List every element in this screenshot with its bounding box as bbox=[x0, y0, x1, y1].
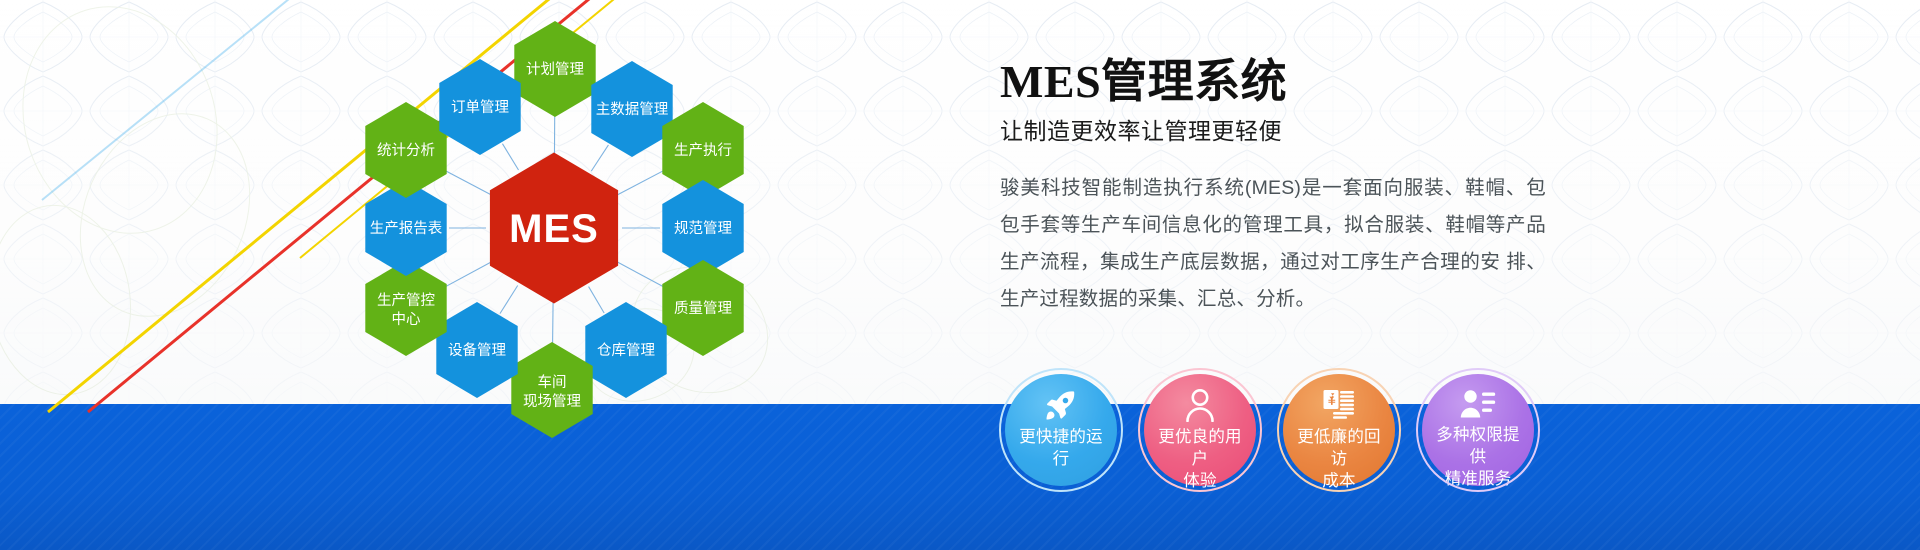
connector-line bbox=[444, 170, 494, 196]
hexagon-label: 现场管理 bbox=[523, 393, 581, 410]
background-pattern bbox=[0, 0, 1920, 404]
connector-line bbox=[589, 287, 605, 313]
hexagon-label: 生产管控 bbox=[377, 292, 435, 309]
hexagon-label: 中心 bbox=[392, 311, 421, 328]
connector-line bbox=[444, 260, 494, 287]
badge-faster-operation[interactable]: 更快捷的运行 bbox=[1005, 374, 1117, 486]
badge-better-user-experience[interactable]: 更优良的用户体验 bbox=[1144, 374, 1256, 486]
center-hexagon-label: MES bbox=[509, 207, 599, 251]
hex-order-management[interactable]: 订单管理 bbox=[439, 59, 520, 155]
hexagon-label: 生产执行 bbox=[674, 142, 732, 159]
hexagon-center-mes: MES bbox=[490, 153, 618, 304]
hex-warehouse-management[interactable]: 仓库管理 bbox=[585, 302, 666, 398]
background-blue-band bbox=[0, 404, 1920, 550]
connector-line bbox=[614, 260, 665, 287]
hex-equipment-management[interactable]: 设备管理 bbox=[436, 302, 517, 398]
hex-quality-management[interactable]: 质量管理 bbox=[662, 260, 743, 356]
hex-plan-management[interactable]: 计划管理 bbox=[514, 21, 595, 117]
connector-line bbox=[500, 286, 518, 314]
mes-hexagon-diagram: 计划管理主数据管理生产执行规范管理质量管理仓库管理车间现场管理设备管理生产管控中… bbox=[330, 12, 830, 442]
hexagon-label: 规范管理 bbox=[674, 220, 732, 237]
hexagon-label: 设备管理 bbox=[448, 342, 506, 359]
hex-statistical-analysis[interactable]: 统计分析 bbox=[365, 102, 446, 198]
hexagon-label: 订单管理 bbox=[451, 99, 509, 116]
banner-stage: 计划管理主数据管理生产执行规范管理质量管理仓库管理车间现场管理设备管理生产管控中… bbox=[0, 0, 1920, 550]
hexagon-label: 主数据管理 bbox=[596, 101, 669, 118]
description-paragraph: 骏美科技智能制造执行系统(MES)是一套面向服装、鞋帽、包包手套等生产车间信息化… bbox=[1000, 170, 1546, 318]
badge-lower-revisit-cost[interactable]: 更低廉的回访成本 bbox=[1283, 374, 1395, 486]
badge-multi-permission-service[interactable]: 多种权限提供精准服务 bbox=[1422, 374, 1534, 486]
page-title: MES管理系统 bbox=[1000, 58, 1600, 106]
hexagon-label: 质量管理 bbox=[674, 300, 732, 317]
hex-workshop-site-management[interactable]: 车间现场管理 bbox=[511, 342, 592, 438]
badge-ring bbox=[999, 368, 1123, 492]
hexagon-label: 车间 bbox=[538, 374, 567, 391]
badge-ring bbox=[1277, 368, 1401, 492]
page-subtitle: 让制造更效率让管理更轻便 bbox=[1000, 112, 1600, 146]
hexagon-label: 仓库管理 bbox=[597, 342, 655, 359]
badge-ring bbox=[1138, 368, 1262, 492]
badge-ring bbox=[1416, 368, 1540, 492]
feature-badges: 更快捷的运行更优良的用户体验更低廉的回访成本多种权限提供精准服务 bbox=[1005, 374, 1565, 494]
hexagon-label: 生产报告表 bbox=[370, 220, 443, 237]
connector-line bbox=[614, 170, 665, 197]
connector-line bbox=[591, 145, 608, 171]
connector-line bbox=[502, 144, 518, 170]
text-column: MES管理系统 让制造更效率让管理更轻便 骏美科技智能制造执行系统(MES)是一… bbox=[1000, 58, 1600, 318]
connector-line bbox=[553, 296, 554, 347]
hex-master-data-management[interactable]: 主数据管理 bbox=[591, 61, 672, 157]
hexagon-diagram-svg: 计划管理主数据管理生产执行规范管理质量管理仓库管理车间现场管理设备管理生产管控中… bbox=[330, 12, 830, 442]
hexagon-label: 计划管理 bbox=[526, 61, 584, 78]
hexagon-label: 统计分析 bbox=[377, 142, 435, 159]
